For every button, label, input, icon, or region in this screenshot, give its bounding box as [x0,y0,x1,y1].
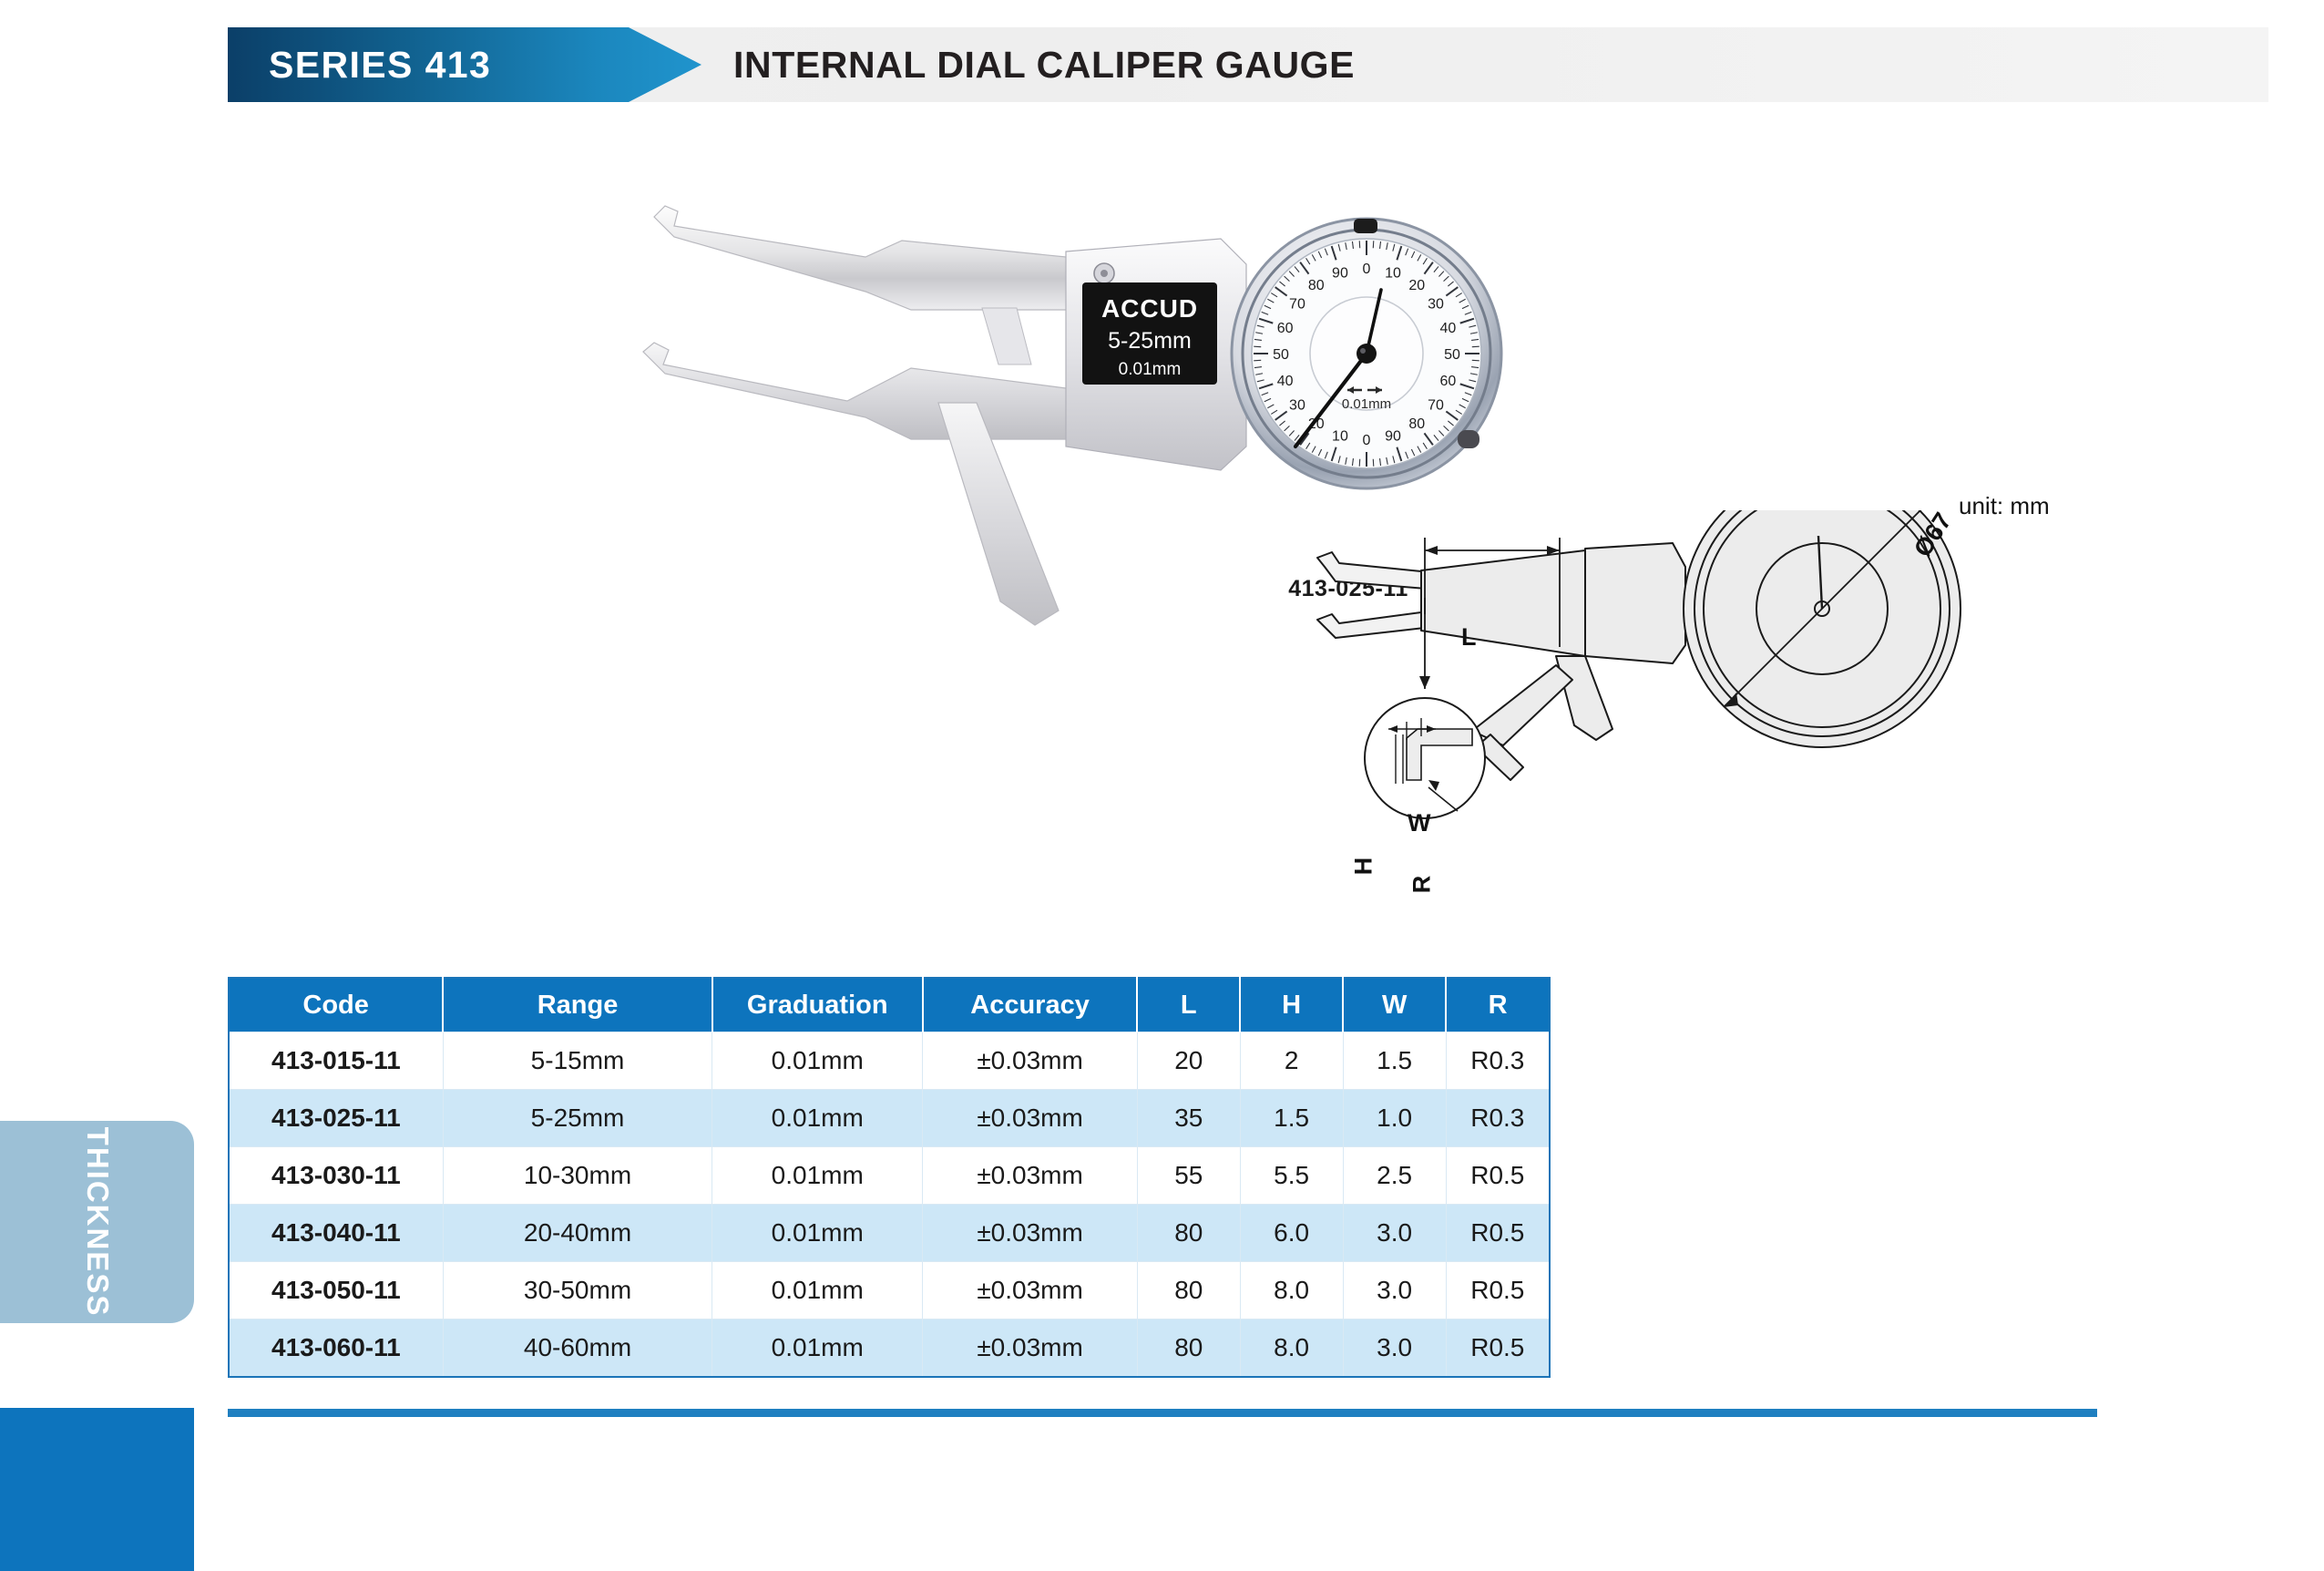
table-cell-l: 20 [1137,1032,1240,1090]
footer-accent-block [0,1408,194,1571]
table-cell-w: 1.0 [1343,1090,1446,1147]
table-cell-accuracy: ±0.03mm [923,1090,1138,1147]
category-tab-thickness[interactable]: THICKNESS [0,1121,194,1323]
svg-text:5-25mm: 5-25mm [1108,328,1192,354]
table-column-header: W [1343,978,1446,1032]
table-cell-range: 10-30mm [443,1147,712,1205]
table-cell-accuracy: ±0.03mm [923,1032,1138,1090]
table-cell-h: 6.0 [1240,1205,1343,1262]
svg-text:90: 90 [1385,428,1401,444]
svg-text:20: 20 [1408,278,1425,293]
table-cell-graduation: 0.01mm [712,1205,923,1262]
table-column-header: L [1137,978,1240,1032]
svg-text:10: 10 [1332,428,1348,444]
svg-text:80: 80 [1408,416,1425,432]
svg-text:ACCUD: ACCUD [1101,294,1198,323]
svg-text:60: 60 [1440,374,1457,389]
table-cell-range: 5-15mm [443,1032,712,1090]
svg-text:50: 50 [1273,347,1289,363]
table-header-row: CodeRangeGraduationAccuracyLHWR [229,978,1550,1032]
table-cell-graduation: 0.01mm [712,1032,923,1090]
table-cell-graduation: 0.01mm [712,1147,923,1205]
table-cell-r: R0.3 [1446,1032,1550,1090]
table-column-header: Accuracy [923,978,1138,1032]
svg-text:0: 0 [1363,262,1371,277]
page-title: INTERNAL DIAL CALIPER GAUGE [733,27,1355,102]
table-row: 413-025-115-25mm0.01mm±0.03mm351.51.0R0.… [229,1090,1550,1147]
table-cell-w: 3.0 [1343,1205,1446,1262]
svg-text:40: 40 [1277,374,1294,389]
table-cell-r: R0.5 [1446,1205,1550,1262]
table-column-header: Graduation [712,978,923,1032]
dimension-l-label: L [1461,623,1477,652]
svg-text:0.01mm: 0.01mm [1119,360,1182,379]
series-badge-label: SERIES 413 [269,44,491,87]
table-cell-l: 80 [1137,1262,1240,1319]
table-cell-accuracy: ±0.03mm [923,1205,1138,1262]
table-cell-graduation: 0.01mm [712,1319,923,1378]
table-cell-r: R0.3 [1446,1090,1550,1147]
unit-note: unit: mm [1959,492,2050,520]
table-cell-code: 413-015-11 [229,1032,443,1090]
table-cell-accuracy: ±0.03mm [923,1147,1138,1205]
table-cell-graduation: 0.01mm [712,1090,923,1147]
table-column-header: H [1240,978,1343,1032]
table-row: 413-030-1110-30mm0.01mm±0.03mm555.52.5R0… [229,1147,1550,1205]
table-cell-code: 413-060-11 [229,1319,443,1378]
table-row: 413-060-1140-60mm0.01mm±0.03mm808.03.0R0… [229,1319,1550,1378]
table-cell-range: 5-25mm [443,1090,712,1147]
table-body: 413-015-115-15mm0.01mm±0.03mm2021.5R0.34… [229,1032,1550,1378]
footer-rule [228,1409,2097,1417]
table-cell-range: 40-60mm [443,1319,712,1378]
table-cell-l: 35 [1137,1090,1240,1147]
svg-text:70: 70 [1428,397,1444,413]
table-cell-w: 3.0 [1343,1262,1446,1319]
table-cell-code: 413-030-11 [229,1147,443,1205]
table-cell-w: 2.5 [1343,1147,1446,1205]
svg-text:0.01mm: 0.01mm [1342,396,1391,412]
dimension-h-label: H [1349,857,1377,876]
table-cell-range: 30-50mm [443,1262,712,1319]
table-cell-h: 8.0 [1240,1319,1343,1378]
svg-text:0: 0 [1363,433,1371,448]
table-cell-w: 1.5 [1343,1032,1446,1090]
table-cell-r: R0.5 [1446,1147,1550,1205]
table-cell-l: 55 [1137,1147,1240,1205]
table-cell-l: 80 [1137,1319,1240,1378]
svg-text:90: 90 [1332,266,1348,282]
specification-table: CodeRangeGraduationAccuracyLHWR 413-015-… [228,977,1551,1378]
table-row: 413-015-115-15mm0.01mm±0.03mm2021.5R0.3 [229,1032,1550,1090]
svg-text:80: 80 [1308,278,1325,293]
table-column-header: Code [229,978,443,1032]
svg-text:10: 10 [1385,266,1401,282]
technical-drawing [1312,510,2132,929]
table-column-header: R [1446,978,1550,1032]
table-cell-w: 3.0 [1343,1319,1446,1378]
svg-text:60: 60 [1277,321,1294,336]
svg-text:50: 50 [1444,347,1460,363]
table-row: 413-040-1120-40mm0.01mm±0.03mm806.03.0R0… [229,1205,1550,1262]
table-row: 413-050-1130-50mm0.01mm±0.03mm808.03.0R0… [229,1262,1550,1319]
svg-text:40: 40 [1440,321,1457,336]
table-cell-h: 1.5 [1240,1090,1343,1147]
table-cell-h: 2 [1240,1032,1343,1090]
table-cell-r: R0.5 [1446,1319,1550,1378]
svg-text:70: 70 [1289,297,1305,313]
table-cell-code: 413-040-11 [229,1205,443,1262]
category-tab-label: THICKNESS [80,1127,115,1318]
svg-text:30: 30 [1289,397,1305,413]
series-badge: SERIES 413 [228,27,701,102]
table-cell-h: 8.0 [1240,1262,1343,1319]
dimension-r-label: R [1408,876,1436,894]
table-cell-accuracy: ±0.03mm [923,1262,1138,1319]
table-cell-r: R0.5 [1446,1262,1550,1319]
table-cell-graduation: 0.01mm [712,1262,923,1319]
table-cell-accuracy: ±0.03mm [923,1319,1138,1378]
table-column-header: Range [443,978,712,1032]
table-cell-h: 5.5 [1240,1147,1343,1205]
svg-text:30: 30 [1428,297,1444,313]
table-cell-code: 413-025-11 [229,1090,443,1147]
dimension-w-label: W [1408,809,1430,837]
table-cell-range: 20-40mm [443,1205,712,1262]
table-cell-code: 413-050-11 [229,1262,443,1319]
page-header: SERIES 413 INTERNAL DIAL CALIPER GAUGE [0,27,2324,102]
table-cell-l: 80 [1137,1205,1240,1262]
